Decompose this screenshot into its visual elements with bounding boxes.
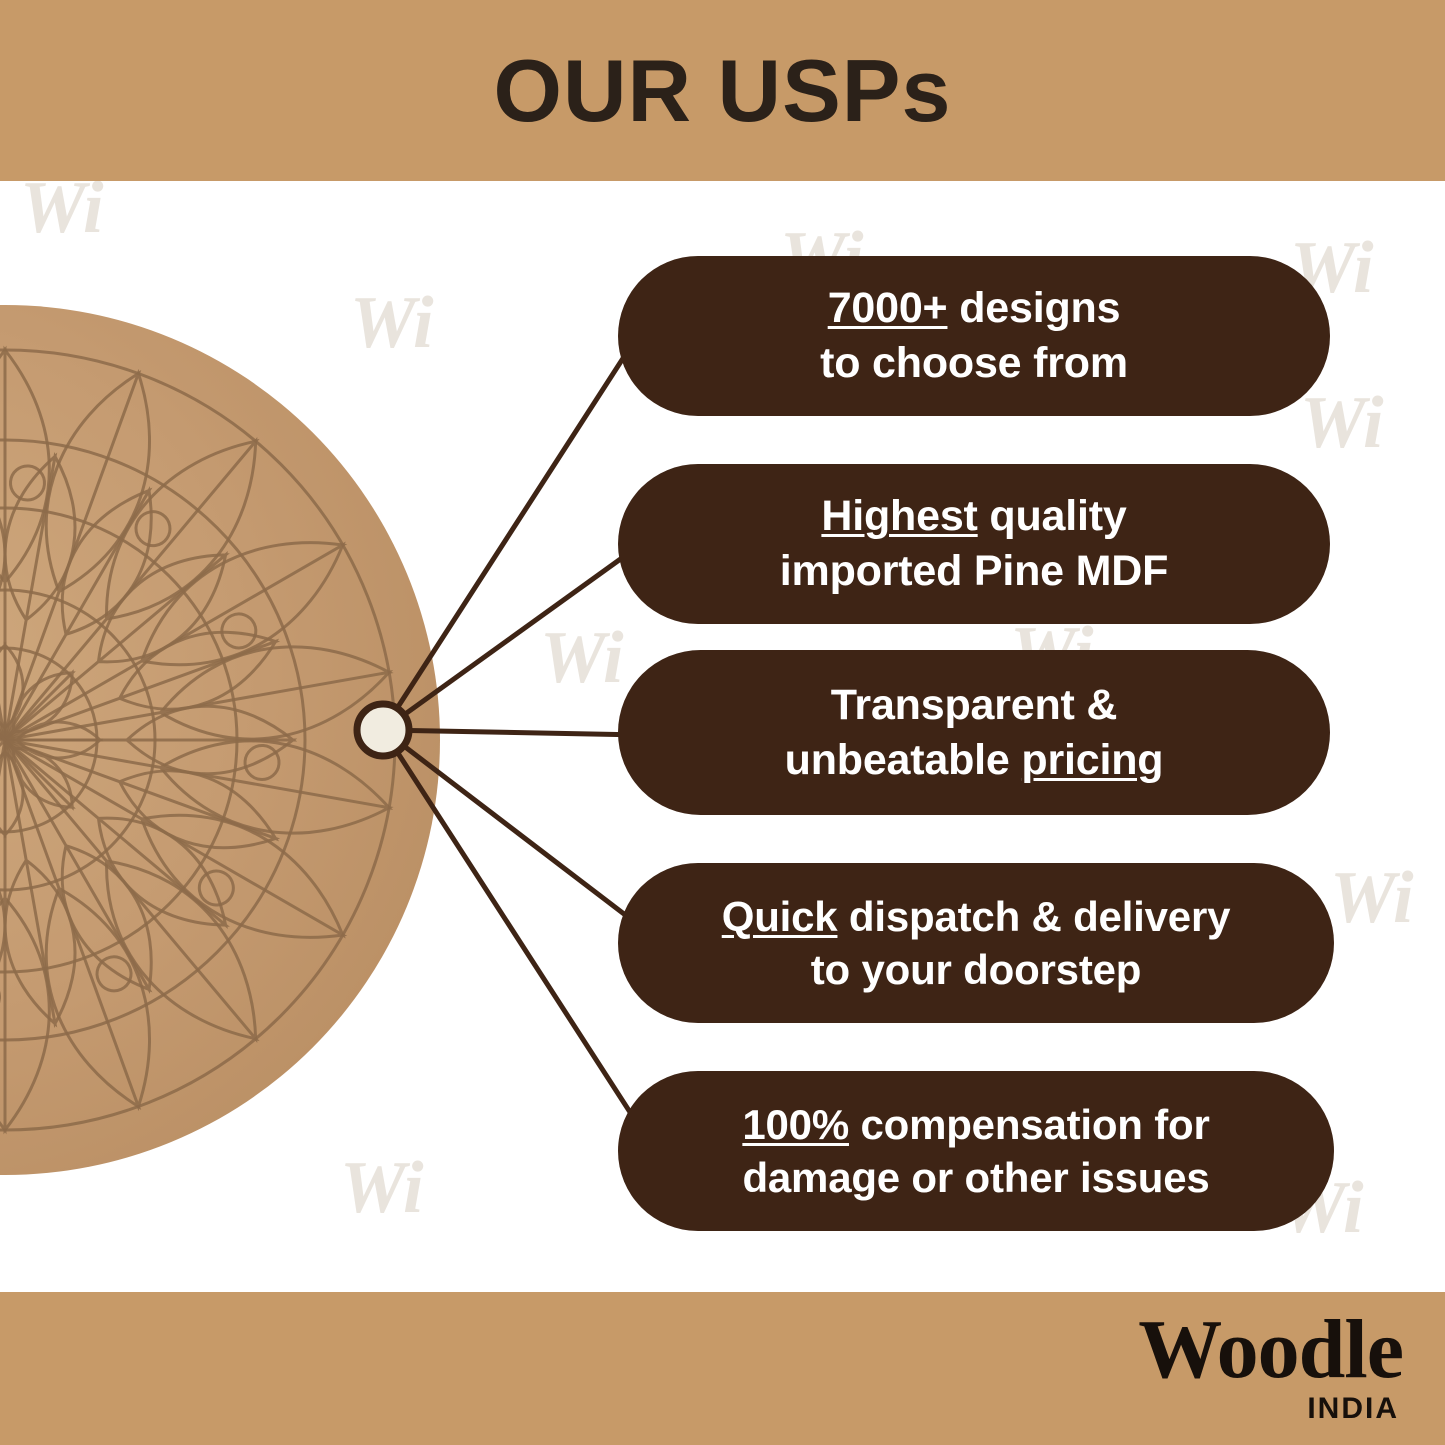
usp-line2: to your doorstep [811,946,1141,993]
usp-highlight: 7000+ [828,284,948,332]
usp-item-pricing[interactable]: Transparent & unbeatable pricing [618,650,1330,815]
usp-line2: to choose from [820,339,1128,387]
usp-highlight: Quick [722,893,838,940]
usp-line1-rest: dispatch & delivery [837,893,1230,940]
usp-text: 7000+ designs to choose from [820,281,1128,390]
usp-line1-rest: compensation for [849,1101,1210,1148]
usp-line2: damage or other issues [742,1154,1209,1201]
usp-line2-rest: unbeatable [785,736,1022,784]
usp-line1: Transparent & [831,681,1118,729]
usp-item-compensation[interactable]: 100% compensation for damage or other is… [618,1071,1334,1231]
hub-node [357,704,409,756]
usp-highlight: Highest [821,492,977,540]
usp-line2: imported Pine MDF [780,547,1168,595]
usp-item-dispatch[interactable]: Quick dispatch & delivery to your doorst… [618,863,1334,1023]
brand-logo: Woodle INDIA [1138,1310,1403,1426]
usp-text: Highest quality imported Pine MDF [780,489,1168,598]
usp-line1-rest: designs [947,284,1120,332]
brand-subtitle: INDIA [1138,1392,1399,1426]
usp-item-designs[interactable]: 7000+ designs to choose from [618,256,1330,416]
usp-text: Transparent & unbeatable pricing [785,678,1164,787]
usp-infographic: Wi Wi Wi Wi Wi Wi Wi Wi Wi Wi [0,0,1445,1445]
usp-line1-rest: quality [978,492,1127,540]
page-title: OUR USPs [0,0,1445,181]
usp-text: Quick dispatch & delivery to your doorst… [722,890,1231,997]
usp-highlight: pricing [1021,736,1163,784]
usp-highlight: 100% [742,1101,849,1148]
usp-item-quality[interactable]: Highest quality imported Pine MDF [618,464,1330,624]
brand-name: Woodle [1138,1310,1403,1390]
usp-text: 100% compensation for damage or other is… [742,1098,1209,1205]
